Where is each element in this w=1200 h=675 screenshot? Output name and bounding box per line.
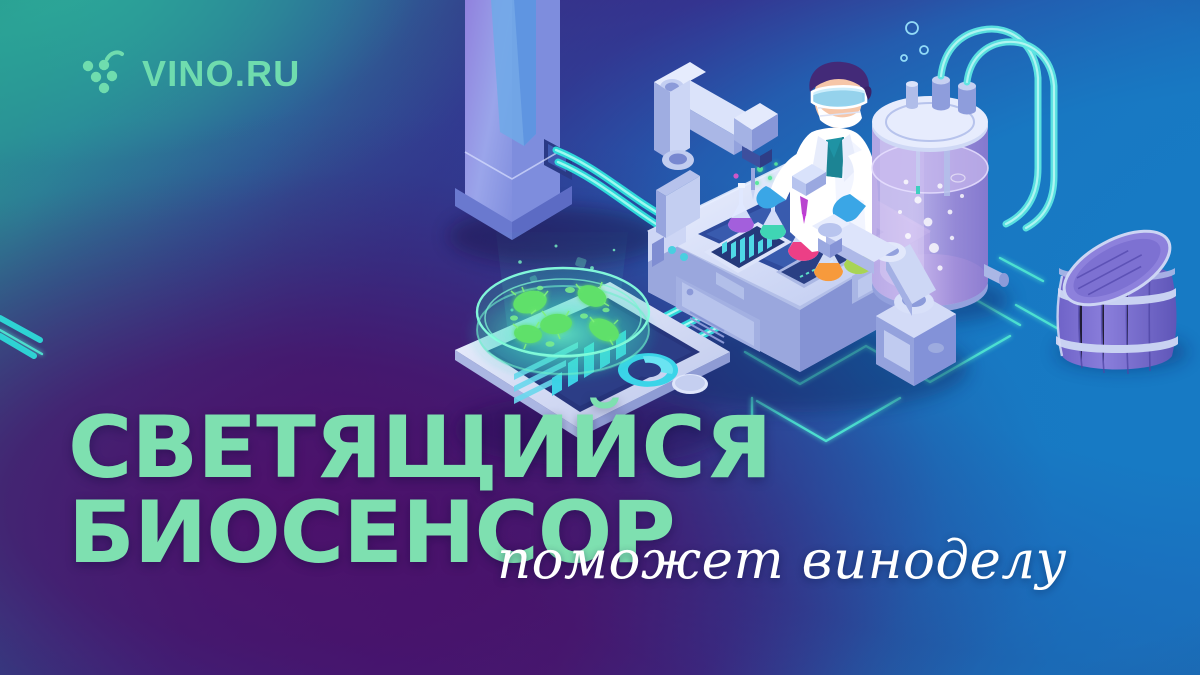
brand-logo[interactable]: VINO.RU: [80, 48, 300, 100]
subtitle-script: поможет виноделу: [497, 534, 1067, 587]
grape-cluster-icon: [80, 48, 126, 100]
poster-canvas: VINO.RU СВЕТЯЩИЙСЯ БИОСЕНСОР поможет вин…: [0, 0, 1200, 675]
brand-logo-text: VINO.RU: [142, 56, 300, 92]
headline-line-1: СВЕТЯЩИЙСЯ: [68, 410, 639, 487]
